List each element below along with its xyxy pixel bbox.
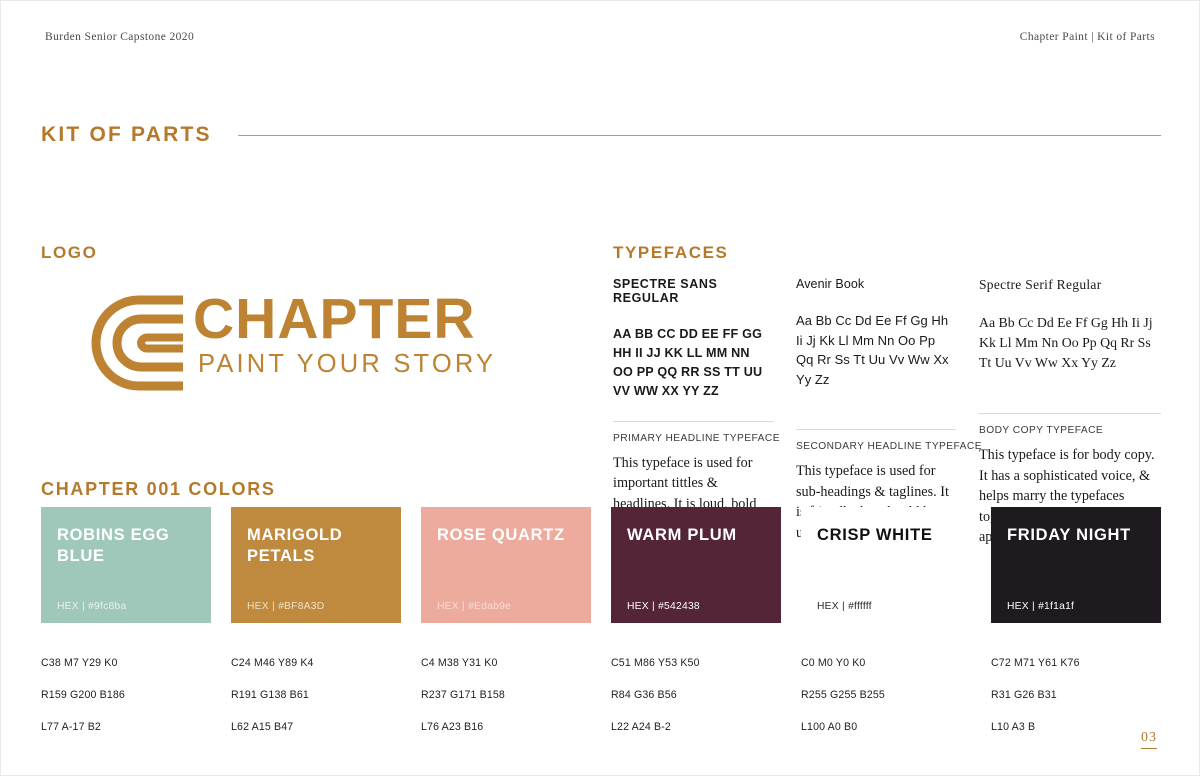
- running-header-right: Chapter Paint | Kit of Parts: [1020, 31, 1155, 43]
- logo-lockup: CHAPTER PAINT YOUR STORY: [87, 289, 557, 399]
- page-title: KIT OF PARTS: [41, 123, 212, 147]
- color-swatch: FRIDAY NIGHT HEX | #1f1a1f: [991, 507, 1161, 623]
- color-hex-label: HEX | #9fc8ba: [57, 601, 126, 612]
- color-values: C4 M38 Y31 K0 R237 G171 B158 L76 A23 B16: [421, 639, 591, 736]
- color-cmyk: C4 M38 Y31 K0: [421, 657, 498, 669]
- color-swatch-cell: FRIDAY NIGHT HEX | #1f1a1f C72 M71 Y61 K…: [991, 507, 1161, 736]
- color-cmyk: C24 M46 Y89 K4: [231, 657, 314, 669]
- color-swatch-cell: ROBINS EGG BLUE HEX | #9fc8ba C38 M7 Y29…: [41, 507, 211, 736]
- typeface-name: SPECTRE SANS REGULAR: [613, 277, 773, 305]
- typeface-role-label: SECONDARY HEADLINE TYPEFACE: [796, 441, 956, 452]
- typeface-divider: [979, 413, 1161, 414]
- color-values: C0 M0 Y0 K0 R255 G255 B255 L100 A0 B0: [801, 639, 971, 736]
- color-lab: L22 A24 B-2: [611, 721, 671, 733]
- color-name: FRIDAY NIGHT: [1007, 525, 1145, 546]
- color-name: ROSE QUARTZ: [437, 525, 575, 546]
- color-cmyk: C51 M86 Y53 K50: [611, 657, 700, 669]
- typeface-name: Avenir Book: [796, 277, 956, 291]
- color-cmyk: C72 M71 Y61 K76: [991, 657, 1080, 669]
- section-heading-colors: CHAPTER 001 COLORS: [41, 479, 276, 500]
- color-values: C72 M71 Y61 K76 R31 G26 B31 L10 A3 B: [991, 639, 1161, 736]
- color-lab: L10 A3 B: [991, 721, 1035, 733]
- color-swatch: ROBINS EGG BLUE HEX | #9fc8ba: [41, 507, 211, 623]
- running-header-left: Burden Senior Capstone 2020: [45, 31, 194, 43]
- color-lab: L76 A23 B16: [421, 721, 483, 733]
- color-swatch: WARM PLUM HEX | #542438: [611, 507, 781, 623]
- typeface-role-label: PRIMARY HEADLINE TYPEFACE: [613, 433, 773, 444]
- color-swatch-cell: WARM PLUM HEX | #542438 C51 M86 Y53 K50 …: [611, 507, 781, 736]
- color-rgb: R237 G171 B158: [421, 689, 505, 701]
- nested-arc-c-mark: [87, 291, 183, 395]
- typeface-role-label: BODY COPY TYPEFACE: [979, 425, 1161, 436]
- color-values: C38 M7 Y29 K0 R159 G200 B186 L77 A-17 B2: [41, 639, 211, 736]
- page-number: 03: [1141, 730, 1157, 749]
- color-swatch: MARIGOLD PETALS HEX | #BF8A3D: [231, 507, 401, 623]
- color-values: C51 M86 Y53 K50 R84 G36 B56 L22 A24 B-2: [611, 639, 781, 736]
- logo-wordmark: CHAPTER: [193, 293, 496, 345]
- brand-guidelines-page: Burden Senior Capstone 2020 Chapter Pain…: [0, 0, 1200, 776]
- color-hex-label: HEX | #1f1a1f: [1007, 601, 1074, 612]
- color-hex-label: HEX | #BF8A3D: [247, 601, 324, 612]
- typeface-specimen: AA BB CC DD EE FF GG HH II JJ KK LL MM N…: [613, 325, 773, 402]
- color-name: ROBINS EGG BLUE: [57, 525, 195, 567]
- color-hex-label: HEX | #542438: [627, 601, 700, 612]
- color-cmyk: C38 M7 Y29 K0: [41, 657, 118, 669]
- logo-text: CHAPTER PAINT YOUR STORY: [193, 289, 496, 378]
- color-cmyk: C0 M0 Y0 K0: [801, 657, 865, 669]
- color-hex-label: HEX | #Edab9e: [437, 601, 511, 612]
- color-rgb: R31 G26 B31: [991, 689, 1057, 701]
- color-swatch-cell: CRISP WHITE HEX | #ffffff C0 M0 Y0 K0 R2…: [801, 507, 971, 736]
- color-swatch-cell: ROSE QUARTZ HEX | #Edab9e C4 M38 Y31 K0 …: [421, 507, 591, 736]
- color-lab: L62 A15 B47: [231, 721, 293, 733]
- color-name: WARM PLUM: [627, 525, 765, 546]
- typeface-divider: [613, 421, 773, 422]
- typeface-divider: [796, 429, 956, 430]
- typeface-name: Spectre Serif Regular: [979, 277, 1161, 293]
- color-lab: L77 A-17 B2: [41, 721, 101, 733]
- color-swatch: ROSE QUARTZ HEX | #Edab9e: [421, 507, 591, 623]
- color-name: MARIGOLD PETALS: [247, 525, 385, 567]
- typeface-specimen: Aa Bb Cc Dd Ee Ff Gg Hh Ii Jj Kk Ll Mm N…: [979, 313, 1161, 373]
- color-swatch-row: ROBINS EGG BLUE HEX | #9fc8ba C38 M7 Y29…: [41, 507, 1161, 736]
- color-name: CRISP WHITE: [817, 525, 955, 546]
- section-heading-typefaces: TYPEFACES: [613, 243, 728, 263]
- color-hex-label: HEX | #ffffff: [817, 601, 872, 612]
- title-rule: [238, 135, 1161, 136]
- logo-tagline: PAINT YOUR STORY: [198, 352, 496, 378]
- color-swatch-cell: MARIGOLD PETALS HEX | #BF8A3D C24 M46 Y8…: [231, 507, 401, 736]
- page-title-row: KIT OF PARTS: [41, 123, 1161, 147]
- color-rgb: R84 G36 B56: [611, 689, 677, 701]
- color-swatch: CRISP WHITE HEX | #ffffff: [801, 507, 971, 623]
- color-rgb: R191 G138 B61: [231, 689, 309, 701]
- typeface-specimen: Aa Bb Cc Dd Ee Ff Gg Hh Ii Jj Kk Ll Mm N…: [796, 311, 956, 389]
- color-rgb: R255 G255 B255: [801, 689, 885, 701]
- section-heading-logo: LOGO: [41, 243, 97, 263]
- color-values: C24 M46 Y89 K4 R191 G138 B61 L62 A15 B47: [231, 639, 401, 736]
- color-rgb: R159 G200 B186: [41, 689, 125, 701]
- color-lab: L100 A0 B0: [801, 721, 857, 733]
